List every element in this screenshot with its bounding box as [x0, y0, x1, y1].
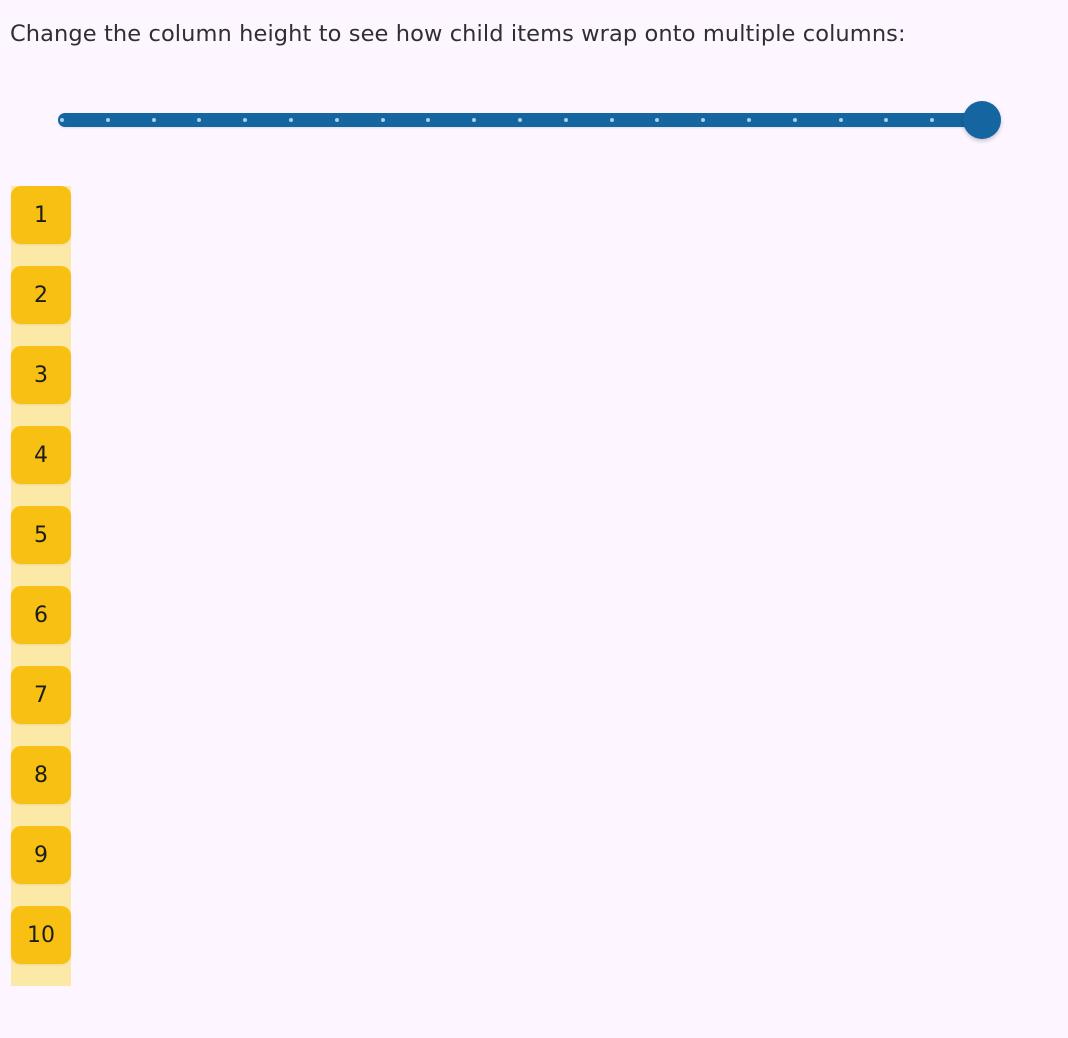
- flex-item: 1: [11, 186, 71, 244]
- slider-tick: [518, 118, 522, 122]
- slider-tick: [197, 118, 201, 122]
- flex-item-label: 4: [34, 443, 48, 468]
- slider-tick: [335, 118, 339, 122]
- flex-item-label: 3: [34, 363, 48, 388]
- slider-tick: [472, 118, 476, 122]
- slider-tick: [793, 118, 797, 122]
- slider-tick: [289, 118, 293, 122]
- slider-tick: [884, 118, 888, 122]
- slider-tick: [152, 118, 156, 122]
- flex-item: 2: [11, 266, 71, 324]
- flex-item: 4: [11, 426, 71, 484]
- flex-item: 7: [11, 666, 71, 724]
- slider-tick: [243, 118, 247, 122]
- slider-tick: [426, 118, 430, 122]
- slider-tick: [655, 118, 659, 122]
- column-height-slider[interactable]: [58, 107, 982, 133]
- flex-item-label: 5: [34, 523, 48, 548]
- flex-item-label: 9: [34, 843, 48, 868]
- slider-tick: [106, 118, 110, 122]
- slider-tick: [564, 118, 568, 122]
- flex-item: 5: [11, 506, 71, 564]
- slider-tick: [747, 118, 751, 122]
- flex-item: 8: [11, 746, 71, 804]
- slider-tick-marks: [58, 113, 982, 127]
- flex-item-label: 8: [34, 763, 48, 788]
- flex-item: 3: [11, 346, 71, 404]
- slider-tick: [930, 118, 934, 122]
- slider-tick: [701, 118, 705, 122]
- flex-item-label: 2: [34, 283, 48, 308]
- slider-tick: [381, 118, 385, 122]
- flex-item: 6: [11, 586, 71, 644]
- slider-tick: [60, 118, 64, 122]
- slider-tick: [610, 118, 614, 122]
- flex-item-label: 7: [34, 683, 48, 708]
- flex-item-label: 10: [27, 923, 55, 948]
- page-heading: Change the column height to see how chil…: [10, 19, 906, 49]
- slider-tick: [839, 118, 843, 122]
- wrapping-flex-column: 12345678910: [11, 186, 71, 986]
- flex-item-label: 1: [34, 203, 48, 228]
- slider-thumb[interactable]: [963, 101, 1001, 139]
- flex-item: 10: [11, 906, 71, 964]
- flex-item: 9: [11, 826, 71, 884]
- flex-item-label: 6: [34, 603, 48, 628]
